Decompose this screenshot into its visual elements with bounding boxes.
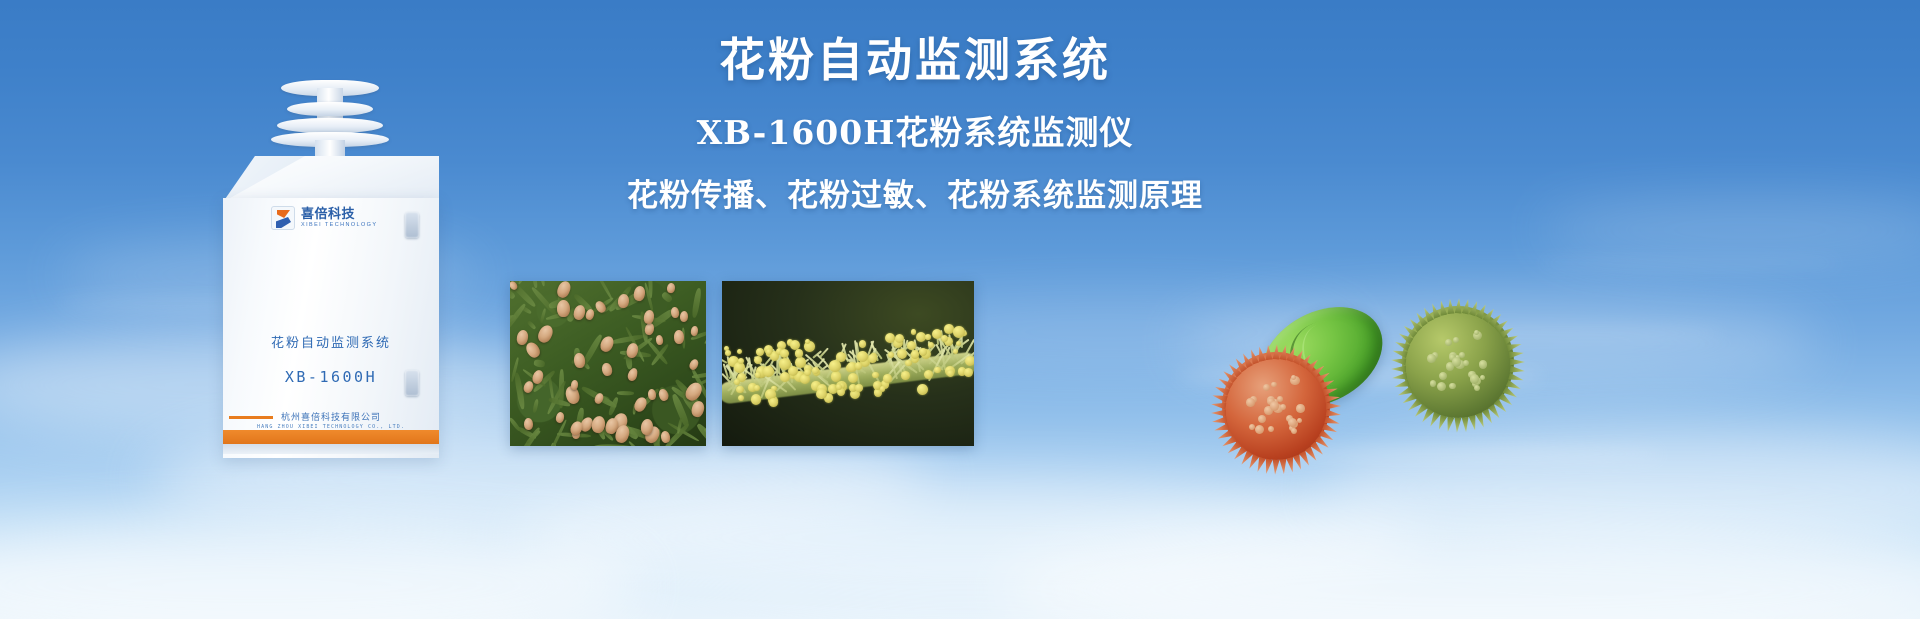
catkin-anther	[738, 358, 744, 364]
device-model-number: XB-1600H	[223, 368, 439, 386]
pollen-bump	[1258, 415, 1266, 423]
cloud-streak	[1540, 260, 1840, 266]
pollen-bump	[1437, 382, 1446, 391]
catkin-anther	[944, 324, 953, 333]
catkin-anther	[925, 334, 931, 340]
pollen-bump	[1249, 424, 1255, 430]
brand-name-en: XIBEI TECHNOLOGY	[301, 223, 377, 229]
cypress-cone	[674, 330, 685, 344]
pollen-bump	[1277, 396, 1283, 402]
device-brand-lockup: 喜倍科技 XIBEI TECHNOLOGY	[271, 206, 377, 230]
cypress-cone	[557, 300, 570, 317]
device-base-stripe	[223, 430, 439, 444]
pollen-monitoring-banner: 花粉自动监测系统 XB-1600H花粉系统监测仪 花粉传播、花粉过敏、花粉系统监…	[0, 0, 1920, 619]
catkin-anther	[855, 362, 863, 370]
catkin-anther	[831, 371, 841, 381]
catkin-anther	[911, 350, 919, 358]
olive-spiky-pollen-grain-icon	[1402, 306, 1514, 418]
pollen-bump	[1430, 380, 1436, 386]
pollen-bump	[1270, 401, 1279, 410]
device-base-shadow	[223, 444, 439, 454]
cloud-wisp	[1320, 430, 1920, 550]
cloud-wisp	[0, 520, 640, 619]
cloud-wisp	[1540, 200, 1920, 260]
catkin-anther	[947, 370, 954, 377]
catkin-anther	[880, 386, 886, 392]
catkin-anther	[737, 349, 742, 354]
catkin-anther	[855, 384, 863, 392]
catkin-anther	[779, 358, 791, 370]
pollen-bump	[1288, 418, 1297, 427]
catkin-anther	[883, 374, 892, 383]
pollen-bump	[1296, 404, 1304, 412]
catkin-anther	[907, 341, 916, 350]
device-product-name: 花粉自动监测系统	[223, 332, 439, 351]
cypress-cone	[660, 430, 671, 443]
catkin-anther	[956, 341, 961, 346]
banner-heading-block: 花粉自动监测系统 XB-1600H花粉系统监测仪 花粉传播、花粉过敏、花粉系统监…	[595, 32, 1235, 217]
air-inlet-plate	[277, 118, 383, 133]
catkin-anther	[812, 367, 819, 374]
pollen-bump	[1449, 383, 1455, 389]
banner-title: 花粉自动监测系统	[595, 32, 1235, 90]
catkin-anther	[725, 350, 731, 356]
pollen-bump	[1291, 428, 1297, 434]
catkin-anther	[769, 398, 778, 407]
pollen-bump	[1459, 352, 1465, 358]
catkin-anther	[736, 386, 744, 394]
pollen-bump	[1271, 382, 1277, 388]
device-company-en: HANG ZHOU XIBEI TECHNOLOGY CO., LTD.	[223, 424, 439, 430]
banner-subtitle: XB-1600H花粉系统监测仪	[595, 112, 1235, 155]
cloud-wisp	[520, 478, 1420, 598]
air-inlet-plate	[287, 102, 373, 116]
catkin-anther	[964, 368, 973, 377]
catkin-anther	[756, 348, 763, 355]
catkin-anther	[754, 356, 763, 365]
catkin-anther	[795, 349, 804, 358]
photo-cypress-cones	[510, 281, 706, 446]
catkin-anther	[763, 366, 774, 377]
catkin-anther	[868, 354, 877, 363]
cypress-frond	[617, 391, 634, 395]
pollen-bump	[1470, 374, 1479, 383]
catkin-anther	[905, 360, 911, 366]
catkin-anther	[919, 348, 927, 356]
catkin-anther	[859, 340, 867, 348]
pollen-bump	[1474, 385, 1480, 391]
pollen-bump	[1452, 357, 1461, 366]
pollen-bump	[1427, 354, 1435, 362]
catkin-anther	[816, 389, 827, 400]
catkin-anther	[766, 349, 772, 355]
brand-name-cn: 喜倍科技	[301, 207, 377, 220]
catkin-anther	[836, 352, 846, 362]
catkin-anther	[928, 342, 934, 348]
pollen-bump	[1246, 398, 1254, 406]
device-company-cn: 杭州喜倍科技有限公司	[223, 410, 439, 423]
catkin-anther	[751, 394, 761, 404]
catkin-anther	[780, 349, 789, 358]
xibei-logo-icon	[271, 206, 295, 230]
catkin-anther	[734, 379, 740, 385]
catkin-anther	[885, 333, 895, 343]
pollen-bump	[1439, 372, 1447, 380]
catkin-anther	[965, 356, 974, 366]
pollen-bump	[1463, 360, 1469, 366]
photo-catkin-macro	[722, 281, 974, 446]
cypress-cone	[573, 352, 585, 368]
pollen-bump	[1268, 426, 1274, 432]
catkin-anther	[895, 334, 904, 343]
banner-description: 花粉传播、花粉过敏、花粉系统监测原理	[595, 176, 1235, 216]
catkin-anther	[934, 367, 940, 373]
cloud-wisp	[1000, 520, 1920, 619]
pollen-bump	[1453, 337, 1459, 343]
device-door-handle-upper[interactable]	[405, 212, 419, 238]
red-spiky-pollen-grain-icon	[1222, 352, 1330, 460]
pollen-monitor-device: 喜倍科技 XIBEI TECHNOLOGY 花粉自动监测系统 XB-1600H …	[205, 80, 455, 440]
